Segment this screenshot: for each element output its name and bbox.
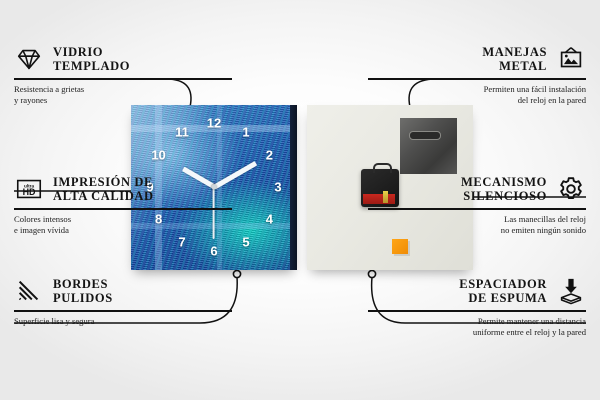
clock-numeral: 6 bbox=[210, 245, 217, 258]
feature-impresion-alta-calidad: ultra HD IMPRESIÓN DE ALTA CALIDAD Color… bbox=[14, 170, 232, 236]
ultra-hd-icon: ultra HD bbox=[14, 174, 44, 204]
feature-description: Permiten una fácil instalación del reloj… bbox=[368, 80, 586, 106]
feature-espaciador-espuma: ESPACIADOR DE ESPUMA Permite mantener un… bbox=[368, 272, 586, 338]
feature-manejas-metal: MANEJAS METAL Permiten una fácil instala… bbox=[368, 40, 586, 106]
clock-numeral: 3 bbox=[274, 181, 281, 194]
feature-title: VIDRIO TEMPLADO bbox=[53, 45, 130, 74]
feature-title: IMPRESIÓN DE ALTA CALIDAD bbox=[53, 175, 154, 204]
svg-text:HD: HD bbox=[23, 187, 36, 197]
clock-numeral: 4 bbox=[266, 213, 273, 226]
feature-title: MECANISMO SILENCIOSO bbox=[461, 175, 547, 204]
feature-description: Superficie lisa y segura bbox=[14, 312, 232, 327]
foam-spacer-pad bbox=[392, 239, 408, 254]
wall-frame-icon bbox=[556, 44, 586, 74]
clock-numeral: 10 bbox=[151, 149, 165, 162]
clock-numeral: 7 bbox=[178, 236, 185, 249]
foam-spacer-icon bbox=[556, 276, 586, 306]
hanger-slot bbox=[409, 131, 441, 140]
infographic-canvas: 121234567891011 VIDRIO TEMPLADO Resisten… bbox=[0, 0, 600, 400]
feature-vidrio-templado: VIDRIO TEMPLADO Resistencia a grietas y … bbox=[14, 40, 232, 106]
polished-edges-icon bbox=[14, 276, 44, 306]
connector-dot-bordes bbox=[233, 270, 240, 277]
clock-numeral: 2 bbox=[266, 149, 273, 162]
feature-mecanismo-silencioso: MECANISMO SILENCIOSO Las manecillas del … bbox=[368, 170, 586, 236]
gear-icon bbox=[556, 174, 586, 204]
feature-description: Resistencia a grietas y rayones bbox=[14, 80, 232, 106]
clock-numeral: 11 bbox=[175, 125, 189, 138]
feature-description: Colores intensos e imagen vívida bbox=[14, 210, 232, 236]
metal-hanger bbox=[400, 118, 457, 174]
feature-description: Permite mantener una distancia uniforme … bbox=[368, 312, 586, 338]
feature-title: MANEJAS METAL bbox=[482, 45, 547, 74]
clock-numeral: 12 bbox=[207, 117, 221, 130]
feature-bordes-pulidos: BORDES PULIDOS Superficie lisa y segura bbox=[14, 272, 232, 327]
feature-title: ESPACIADOR DE ESPUMA bbox=[459, 277, 547, 306]
diamond-icon bbox=[14, 44, 44, 74]
feature-description: Las manecillas del reloj no emiten ningú… bbox=[368, 210, 586, 236]
clock-numeral: 1 bbox=[242, 125, 249, 138]
clock-numeral: 5 bbox=[242, 236, 249, 249]
feature-title: BORDES PULIDOS bbox=[53, 277, 113, 306]
